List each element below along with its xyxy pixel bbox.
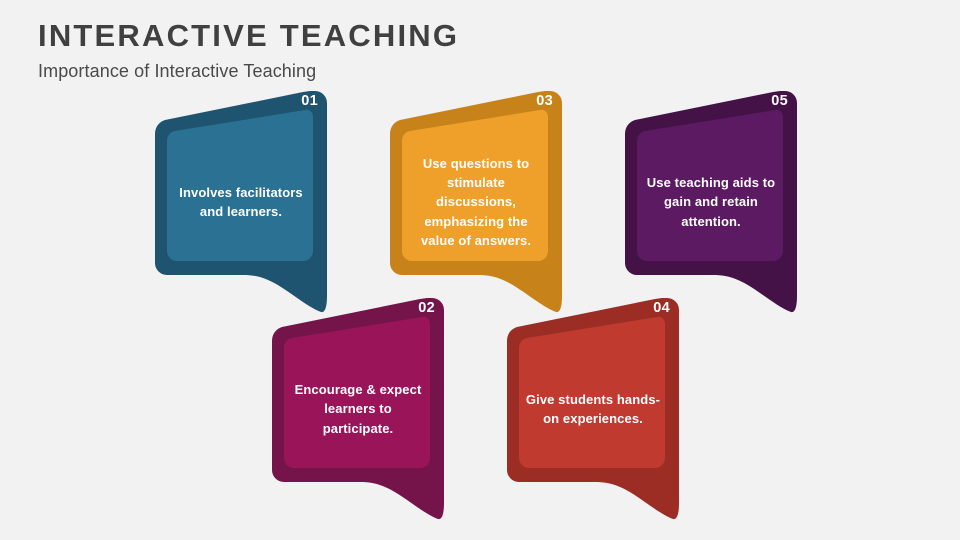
page-subtitle: Importance of Interactive Teaching <box>38 61 738 82</box>
slide-header: INTERACTIVE TEACHING Importance of Inter… <box>38 18 738 82</box>
callout-text-04: Give students hands-on experiences. <box>524 334 662 484</box>
callout-number-03: 03 <box>536 93 553 109</box>
callout-text-01: Involves facilitators and learners. <box>172 127 310 277</box>
callout-card-01[interactable]: 01 Involves facilitators and learners. <box>155 91 327 331</box>
callout-text-05: Use teaching aids to gain and retain att… <box>642 127 780 277</box>
slide-canvas: INTERACTIVE TEACHING Importance of Inter… <box>0 0 960 540</box>
callout-card-02[interactable]: 02 Encourage & expect learners to partic… <box>272 298 444 538</box>
callout-card-05[interactable]: 05 Use teaching aids to gain and retain … <box>625 91 797 331</box>
callout-number-05: 05 <box>771 93 788 109</box>
page-title: INTERACTIVE TEACHING <box>38 18 738 54</box>
callout-card-03[interactable]: 03 Use questions to stimulate discussion… <box>390 91 562 331</box>
callout-number-04: 04 <box>653 300 670 316</box>
callout-text-03: Use questions to stimulate discussions, … <box>407 127 545 277</box>
callout-number-02: 02 <box>418 300 435 316</box>
callout-text-02: Encourage & expect learners to participa… <box>289 334 427 484</box>
callout-number-01: 01 <box>301 93 318 109</box>
callout-card-04[interactable]: 04 Give students hands-on experiences. <box>507 298 679 538</box>
